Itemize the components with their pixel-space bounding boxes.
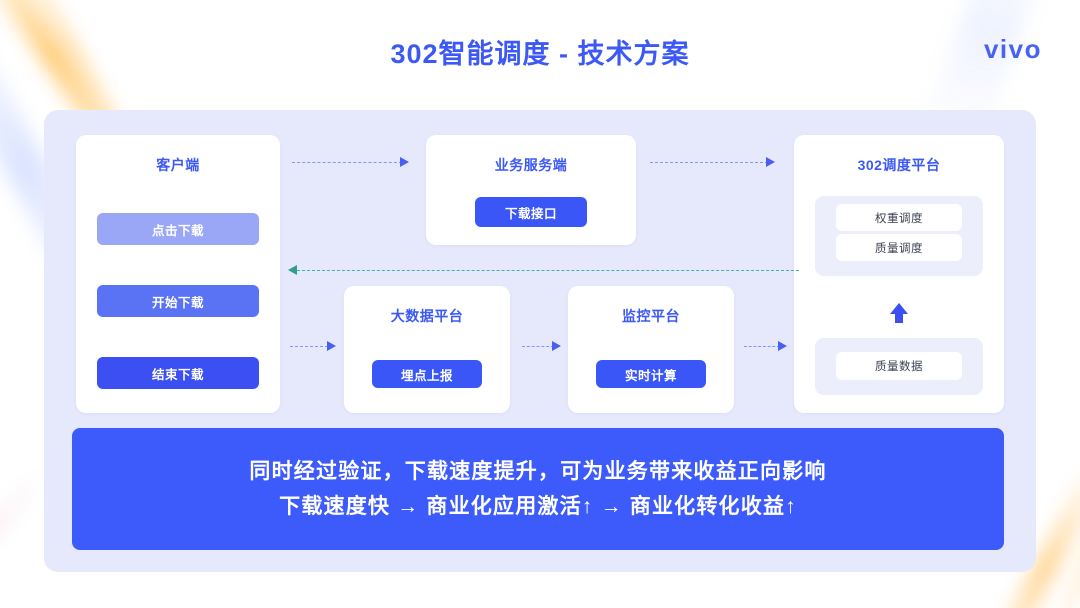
realtime-compute-button[interactable]: 实时计算 xyxy=(596,360,706,388)
card-302-platform: 302调度平台 权重调度 质量调度 质量数据 xyxy=(794,135,1004,413)
tracking-report-button[interactable]: 埋点上报 xyxy=(372,360,482,388)
page-header: 302智能调度 - 技术方案 vivo xyxy=(0,0,1080,92)
quality-scheduling-chip[interactable]: 质量调度 xyxy=(836,234,962,261)
card-client-title: 客户端 xyxy=(76,155,280,175)
arrow-up-icon xyxy=(889,302,909,326)
summary-banner-line-2: 下载速度快 → 商业化应用激活↑ → 商业化转化收益↑ xyxy=(279,496,797,517)
quality-data-chip[interactable]: 质量数据 xyxy=(836,352,962,380)
card-monitor-platform-title: 监控平台 xyxy=(568,306,734,326)
start-download-button[interactable]: 开始下载 xyxy=(97,285,259,317)
summary-banner: 同时经过验证，下载速度提升，可为业务带来收益正向影响 下载速度快 → 商业化应用… xyxy=(72,428,1004,550)
card-bigdata-platform: 大数据平台 埋点上报 xyxy=(344,286,510,413)
card-business-service-title: 业务服务端 xyxy=(426,155,636,175)
card-302-platform-title: 302调度平台 xyxy=(794,155,1004,175)
card-business-service: 业务服务端 下载接口 xyxy=(426,135,636,245)
page-title: 302智能调度 - 技术方案 xyxy=(0,32,1080,71)
quality-data-group: 质量数据 xyxy=(815,338,983,395)
card-bigdata-platform-title: 大数据平台 xyxy=(344,306,510,326)
pink-streak-bottom-left-2 xyxy=(0,470,47,608)
summary-banner-line-1: 同时经过验证，下载速度提升，可为业务带来收益正向影响 xyxy=(249,461,826,482)
scheduling-group: 权重调度 质量调度 xyxy=(815,196,983,276)
card-monitor-platform: 监控平台 实时计算 xyxy=(568,286,734,413)
weight-scheduling-chip[interactable]: 权重调度 xyxy=(836,204,962,231)
vivo-logo: vivo xyxy=(984,36,1042,62)
click-download-button[interactable]: 点击下载 xyxy=(97,213,259,245)
card-client: 客户端 点击下载 开始下载 结束下载 xyxy=(76,135,280,413)
end-download-button[interactable]: 结束下载 xyxy=(97,357,259,389)
architecture-diagram-board: 客户端 点击下载 开始下载 结束下载 业务服务端 下载接口 大数据平台 埋点上报… xyxy=(44,110,1036,572)
download-interface-button[interactable]: 下载接口 xyxy=(475,197,587,227)
